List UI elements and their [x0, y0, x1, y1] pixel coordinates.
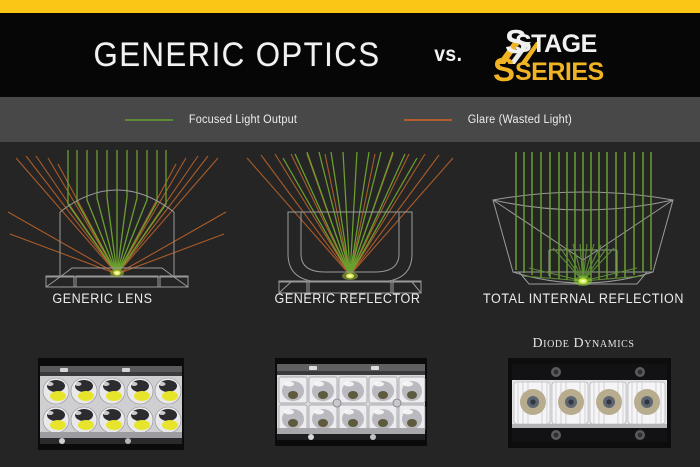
logo-series-initial: S: [493, 51, 515, 86]
led-source-lens: [110, 269, 124, 277]
glare-rays-reflector: [247, 154, 453, 275]
caption-total-internal-reflection: TOTAL INTERNAL REFLECTION: [475, 291, 692, 306]
focused-rays-lens: [68, 150, 166, 274]
versus-label: vs.: [434, 43, 462, 67]
focused-rays-reflector: [283, 152, 417, 275]
header-bar: GENERIC OPTICS vs. STAGE S SERIES: [0, 13, 700, 97]
logo-line2-text: SERIES: [515, 58, 604, 86]
page-title: GENERIC OPTICS: [93, 36, 380, 75]
legend-item-focused: Focused Light Output: [125, 114, 300, 126]
legend-bar: Focused Light Output Glare (Wasted Light…: [0, 97, 700, 142]
legend-item-glare: Glare (Wasted Light): [404, 114, 575, 126]
line-swatch-green-icon: [125, 119, 173, 121]
photo-tir-bar: [508, 358, 671, 448]
line-swatch-orange-icon: [404, 119, 452, 121]
product-photo-row: [0, 358, 700, 458]
stage-series-logo: STAGE S SERIES S: [489, 24, 619, 86]
caption-generic-lens: GENERIC LENS: [0, 291, 211, 306]
caption-row: GENERIC LENS GENERIC REFLECTOR TOTAL INT…: [0, 291, 700, 315]
infographic-page: GENERIC OPTICS vs. STAGE S SERIES: [0, 0, 700, 467]
logo-line1-text: STAGE: [515, 30, 597, 58]
legend-label-glare: Glare (Wasted Light): [468, 114, 572, 126]
legend-label-focused: Focused Light Output: [189, 114, 297, 126]
focused-rays-tir: [516, 152, 651, 280]
reflector-optic-outline: [279, 212, 421, 293]
top-accent-strip: [0, 0, 700, 13]
brand-name: Diode Dynamics: [467, 336, 700, 352]
led-source-tir: [574, 276, 592, 286]
photo-generic-reflector-bar: [275, 358, 427, 446]
photo-generic-lens-bar: [38, 358, 184, 450]
caption-generic-reflector: GENERIC REFLECTOR: [239, 291, 456, 306]
led-source-reflector: [342, 272, 358, 280]
